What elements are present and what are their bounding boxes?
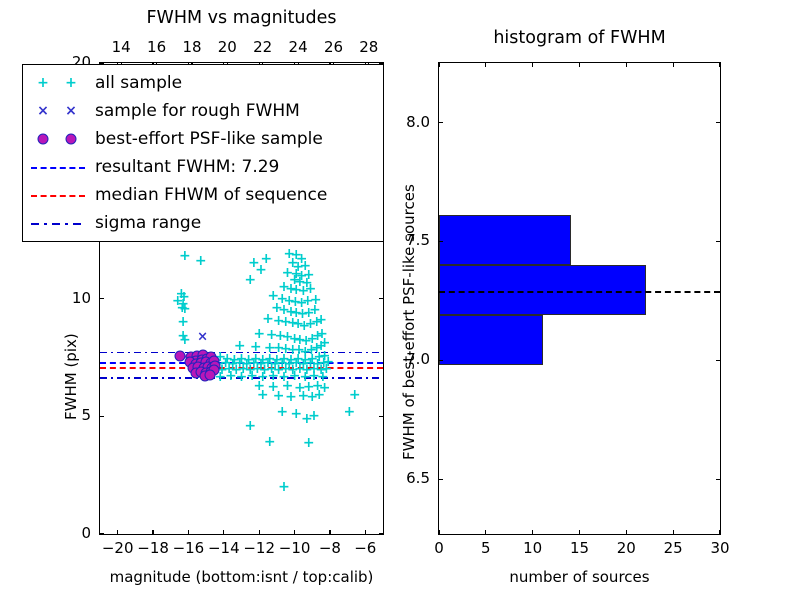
scatter-point-all-sample: + bbox=[303, 306, 315, 320]
scatter-point-all-sample: + bbox=[287, 363, 299, 377]
scatter-x-axis-label: magnitude (bottom:isnt / top:calib) bbox=[99, 568, 384, 586]
scatter-point-psf-like bbox=[200, 371, 211, 382]
scatter-point-all-sample: + bbox=[177, 297, 189, 311]
legend-marker-x-icon: × bbox=[37, 104, 49, 118]
scatter-point-all-sample: + bbox=[267, 380, 279, 394]
legend-entry-3[interactable]: resultant FWHM: 7.29 bbox=[23, 153, 383, 181]
scatter-point-all-sample: + bbox=[290, 283, 302, 297]
scatter-ytick-label: 5 bbox=[81, 406, 91, 424]
scatter-point-all-sample: + bbox=[271, 301, 283, 315]
scatter-point-all-sample: + bbox=[310, 293, 322, 307]
scatter-point-all-sample: + bbox=[273, 389, 285, 403]
scatter-point-all-sample: + bbox=[230, 363, 242, 377]
legend-line-dashed-icon bbox=[31, 167, 85, 169]
scatter-point-all-sample: + bbox=[269, 357, 281, 371]
legend-handle-dashdot-line bbox=[23, 209, 95, 237]
scatter-xtick bbox=[259, 530, 260, 535]
scatter-point-all-sample: + bbox=[293, 343, 305, 357]
scatter-point-all-sample: + bbox=[287, 316, 299, 330]
scatter-point-all-sample: + bbox=[303, 268, 315, 282]
scatter-point-all-sample: + bbox=[248, 256, 260, 270]
scatter-xtick-label: −14 bbox=[208, 539, 240, 557]
scatter-point-psf-like bbox=[191, 355, 202, 366]
scatter-point-all-sample: + bbox=[298, 284, 310, 298]
scatter-point-all-sample: + bbox=[216, 363, 228, 377]
scatter-point-all-sample: + bbox=[227, 357, 239, 371]
scatter-point-all-sample: + bbox=[301, 412, 313, 426]
legend-handle-x: ×× bbox=[23, 97, 95, 125]
scatter-point-all-sample: + bbox=[296, 296, 308, 310]
legend-handle-dashed-line bbox=[23, 153, 95, 181]
scatter-point-all-sample: + bbox=[292, 317, 304, 331]
scatter-point-all-sample: + bbox=[267, 289, 279, 303]
scatter-point-psf-like bbox=[206, 352, 217, 363]
scatter-point-all-sample: + bbox=[299, 353, 311, 367]
scatter-point-all-sample: + bbox=[312, 379, 324, 393]
scatter-point-all-sample: + bbox=[264, 435, 276, 449]
histogram-ytick bbox=[438, 241, 443, 242]
scatter-point-all-sample: + bbox=[319, 381, 331, 395]
scatter-point-all-sample: + bbox=[306, 332, 318, 346]
legend-entry-0[interactable]: ++all sample bbox=[23, 69, 383, 97]
histogram-xtick-label: 5 bbox=[481, 539, 491, 557]
scatter-point-all-sample: + bbox=[178, 290, 190, 304]
scatter-point-all-sample: + bbox=[259, 363, 271, 377]
histogram-xtick-label: 25 bbox=[664, 539, 683, 557]
legend-entry-4[interactable]: median FHWM of sequence bbox=[23, 181, 383, 209]
scatter-point-all-sample: + bbox=[202, 363, 214, 377]
scatter-xtick-label: −6 bbox=[354, 539, 376, 557]
scatter-ytick-right bbox=[379, 533, 384, 534]
scatter-point-all-sample: + bbox=[312, 329, 324, 343]
legend-entry-5[interactable]: sigma range bbox=[23, 209, 383, 237]
histogram-bar bbox=[439, 265, 646, 315]
scatter-point-all-sample: + bbox=[315, 339, 327, 353]
scatter-point-all-sample: + bbox=[244, 273, 256, 287]
scatter-xtick-label: −10 bbox=[279, 539, 311, 557]
scatter-point-all-sample: + bbox=[306, 390, 318, 404]
legend-entry-2[interactable]: best-effort PSF-like sample bbox=[23, 125, 383, 153]
reference-line-sigma-lower bbox=[100, 377, 383, 379]
scatter-point-all-sample: + bbox=[287, 256, 299, 270]
legend-line-dashdot-icon bbox=[31, 223, 85, 225]
scatter-point-all-sample: + bbox=[179, 249, 191, 263]
scatter-point-all-sample: + bbox=[271, 353, 283, 367]
histogram-xtick bbox=[485, 530, 486, 535]
legend-label-2: best-effort PSF-like sample bbox=[95, 129, 323, 149]
histogram-x-axis-label: number of sources bbox=[438, 568, 721, 586]
histogram-xtick-top bbox=[532, 62, 533, 67]
scatter-point-all-sample: + bbox=[225, 369, 237, 383]
scatter-top-tick-label: 20 bbox=[218, 38, 237, 56]
scatter-point-all-sample: + bbox=[273, 363, 285, 377]
scatter-point-all-sample: + bbox=[285, 390, 297, 404]
scatter-point-all-sample: + bbox=[305, 282, 317, 296]
legend-handle-circle bbox=[23, 125, 95, 153]
scatter-point-all-sample: + bbox=[229, 353, 241, 367]
scatter-point-all-sample: + bbox=[276, 405, 288, 419]
scatter-y-axis-label: FWHM (pix) bbox=[62, 333, 80, 420]
histogram-ytick-right bbox=[716, 241, 721, 242]
scatter-xtick bbox=[365, 530, 366, 535]
scatter-point-all-sample: + bbox=[278, 280, 290, 294]
histogram-xtick bbox=[532, 530, 533, 535]
reference-line-median-fhwm-of-sequence bbox=[100, 367, 383, 369]
scatter-point-all-sample: + bbox=[253, 327, 265, 341]
histogram-xtick bbox=[626, 530, 627, 535]
scatter-point-all-sample: + bbox=[199, 357, 211, 371]
scatter-xtick-label: −16 bbox=[173, 539, 205, 557]
scatter-point-all-sample: + bbox=[298, 319, 310, 333]
histogram-xtick-top bbox=[626, 62, 627, 67]
scatter-point-all-sample: + bbox=[213, 357, 225, 371]
histogram-bar bbox=[439, 315, 543, 365]
histogram-ytick bbox=[438, 122, 443, 123]
histogram-xtick-label: 15 bbox=[570, 539, 589, 557]
scatter-point-all-sample: + bbox=[292, 260, 304, 274]
scatter-point-all-sample: + bbox=[278, 480, 290, 494]
reference-line-sigma-upper bbox=[100, 352, 383, 354]
scatter-ytick bbox=[99, 533, 104, 534]
histogram-xtick bbox=[438, 530, 439, 535]
scatter-point-all-sample: + bbox=[301, 363, 313, 377]
legend-handle-plus: ++ bbox=[23, 69, 95, 97]
scatter-point-all-sample: + bbox=[315, 363, 327, 377]
scatter-point-all-sample: + bbox=[303, 436, 315, 450]
histogram-ytick-label: 6.5 bbox=[406, 469, 430, 487]
scatter-point-all-sample: + bbox=[285, 282, 297, 296]
histogram-xtick bbox=[579, 530, 580, 535]
scatter-point-all-sample: + bbox=[176, 301, 188, 315]
histogram-ytick-right bbox=[716, 479, 721, 480]
histogram-xtick-label: 20 bbox=[617, 539, 636, 557]
scatter-point-psf-like bbox=[209, 355, 220, 366]
scatter-point-all-sample: + bbox=[282, 379, 294, 393]
scatter-point-all-sample: + bbox=[290, 407, 302, 421]
scatter-ytick-right bbox=[379, 298, 384, 299]
scatter-point-all-sample: + bbox=[243, 353, 255, 367]
scatter-point-all-sample: + bbox=[298, 389, 310, 403]
scatter-xtick bbox=[294, 530, 295, 535]
histogram-bar bbox=[439, 215, 571, 265]
legend-marker-plus-icon: + bbox=[65, 76, 77, 90]
scatter-point-psf-like bbox=[186, 352, 197, 363]
legend-marker-x-icon: × bbox=[65, 104, 77, 118]
scatter-point-all-sample: + bbox=[289, 369, 301, 383]
scatter-ytick-label: 10 bbox=[72, 289, 91, 307]
scatter-point-all-sample: + bbox=[306, 343, 318, 357]
legend-label-5: sigma range bbox=[95, 213, 201, 233]
legend-label-1: sample for rough FWHM bbox=[95, 101, 300, 121]
scatter-point-all-sample: + bbox=[296, 252, 308, 266]
scatter-point-rough-fwhm: × bbox=[197, 331, 208, 344]
scatter-point-all-sample: + bbox=[287, 343, 299, 357]
histogram-xtick-top bbox=[438, 62, 439, 67]
scatter-point-all-sample: + bbox=[344, 405, 356, 419]
histogram-xtick bbox=[719, 530, 720, 535]
scatter-point-all-sample: + bbox=[298, 357, 310, 371]
scatter-ytick-label: 0 bbox=[81, 524, 91, 542]
scatter-point-all-sample: + bbox=[283, 294, 295, 308]
scatter-top-tick-label: 28 bbox=[359, 38, 378, 56]
legend-marker-circle-icon bbox=[38, 134, 49, 145]
scatter-point-all-sample: + bbox=[285, 305, 297, 319]
histogram-ytick bbox=[438, 479, 443, 480]
scatter-point-all-sample: + bbox=[244, 363, 256, 377]
scatter-point-all-sample: + bbox=[280, 315, 292, 329]
scatter-point-all-sample: + bbox=[309, 303, 321, 317]
scatter-xtick bbox=[117, 530, 118, 535]
scatter-point-all-sample: + bbox=[282, 266, 294, 280]
scatter-point-all-sample: + bbox=[253, 379, 265, 393]
scatter-point-all-sample: + bbox=[273, 314, 285, 328]
scatter-point-all-sample: + bbox=[311, 315, 323, 329]
legend-label-4: median FHWM of sequence bbox=[95, 185, 327, 205]
histogram-xtick-top bbox=[719, 62, 720, 67]
scatter-top-tick-label: 16 bbox=[147, 38, 166, 56]
scatter-point-all-sample: + bbox=[299, 259, 311, 273]
histogram-xtick bbox=[673, 530, 674, 535]
histogram-xtick-label: 30 bbox=[710, 539, 729, 557]
scatter-point-all-sample: + bbox=[308, 369, 320, 383]
histogram-xtick-top bbox=[673, 62, 674, 67]
histogram-xtick-top bbox=[579, 62, 580, 67]
scatter-point-all-sample: + bbox=[255, 357, 267, 371]
scatter-point-all-sample: + bbox=[255, 263, 267, 277]
scatter-point-all-sample: + bbox=[308, 409, 320, 423]
scatter-top-tick-label: 14 bbox=[112, 38, 131, 56]
legend-handle-dashed-line bbox=[23, 181, 95, 209]
scatter-xtick-label: −18 bbox=[137, 539, 169, 557]
scatter-point-all-sample: + bbox=[260, 252, 272, 266]
scatter-point-all-sample: + bbox=[294, 333, 306, 347]
scatter-point-all-sample: + bbox=[244, 419, 256, 433]
scatter-point-all-sample: + bbox=[257, 388, 269, 402]
matplotlib-figure: FWHM vs magnitudes +++++++++++++++++++++… bbox=[0, 0, 800, 600]
scatter-point-all-sample: + bbox=[257, 353, 269, 367]
scatter-point-all-sample: + bbox=[266, 328, 278, 342]
histogram-ytick-right bbox=[716, 360, 721, 361]
histogram-ytick-label: 8.0 bbox=[406, 113, 430, 131]
scatter-ytick bbox=[99, 298, 104, 299]
scatter-point-all-sample: + bbox=[267, 369, 279, 383]
histogram-median-line bbox=[439, 291, 720, 293]
scatter-point-all-sample: + bbox=[349, 388, 361, 402]
scatter-point-all-sample: + bbox=[294, 275, 306, 289]
scatter-point-all-sample: + bbox=[283, 357, 295, 371]
scatter-point-all-sample: + bbox=[290, 295, 302, 309]
scatter-point-all-sample: + bbox=[313, 388, 325, 402]
scatter-top-tick-label: 22 bbox=[253, 38, 272, 56]
scatter-point-all-sample: + bbox=[204, 369, 216, 383]
scatter-point-all-sample: + bbox=[297, 307, 309, 321]
scatter-legend[interactable]: ++all sample××sample for rough FWHMbest-… bbox=[22, 64, 384, 242]
scatter-xtick bbox=[223, 530, 224, 535]
scatter-point-all-sample: + bbox=[176, 287, 188, 301]
scatter-point-all-sample: + bbox=[282, 330, 294, 344]
legend-line-dashed-icon bbox=[31, 195, 85, 197]
scatter-point-all-sample: + bbox=[316, 327, 328, 341]
histogram-xtick-label: 10 bbox=[523, 539, 542, 557]
scatter-xtick bbox=[329, 530, 330, 535]
scatter-xtick-label: −8 bbox=[319, 539, 341, 557]
legend-entry-1[interactable]: ××sample for rough FWHM bbox=[23, 97, 383, 125]
scatter-point-all-sample: + bbox=[241, 357, 253, 371]
scatter-point-all-sample: + bbox=[312, 357, 324, 371]
histogram-y-axis-label: FWHM of best-effort PSF-like sources bbox=[400, 184, 418, 460]
scatter-top-tick-label: 26 bbox=[324, 38, 343, 56]
scatter-point-all-sample: + bbox=[285, 353, 297, 367]
scatter-top-tick-label: 18 bbox=[182, 38, 201, 56]
scatter-point-all-sample: + bbox=[305, 317, 317, 331]
scatter-point-all-sample: + bbox=[179, 333, 191, 347]
scatter-xtick-label: −20 bbox=[102, 539, 134, 557]
scatter-plot-title: FWHM vs magnitudes bbox=[99, 8, 384, 28]
scatter-point-all-sample: + bbox=[319, 336, 331, 350]
scatter-point-all-sample: + bbox=[276, 292, 288, 306]
histogram-xtick-top bbox=[485, 62, 486, 67]
scatter-point-all-sample: + bbox=[177, 329, 189, 343]
scatter-point-all-sample: + bbox=[246, 369, 258, 383]
histogram-data-area bbox=[439, 63, 720, 534]
scatter-point-all-sample: + bbox=[262, 312, 274, 326]
scatter-point-all-sample: + bbox=[300, 334, 312, 348]
legend-label-3: resultant FWHM: 7.29 bbox=[95, 157, 279, 177]
scatter-point-all-sample: + bbox=[303, 380, 315, 394]
histogram-ytick bbox=[438, 360, 443, 361]
histogram-ytick-right bbox=[716, 122, 721, 123]
scatter-point-all-sample: + bbox=[280, 342, 292, 356]
scatter-xtick bbox=[152, 530, 153, 535]
histogram-title: histogram of FWHM bbox=[438, 28, 721, 48]
scatter-point-all-sample: + bbox=[195, 254, 207, 268]
scatter-point-all-sample: + bbox=[290, 306, 302, 320]
legend-marker-circle-icon bbox=[66, 134, 77, 145]
scatter-point-all-sample: + bbox=[290, 248, 302, 262]
scatter-point-all-sample: + bbox=[234, 339, 246, 353]
scatter-ytick-right bbox=[379, 416, 384, 417]
scatter-point-all-sample: + bbox=[301, 276, 313, 290]
scatter-xtick bbox=[188, 530, 189, 535]
scatter-point-all-sample: + bbox=[278, 303, 290, 317]
histogram-xtick-label: 0 bbox=[434, 539, 444, 557]
scatter-top-tick-label: 24 bbox=[289, 38, 308, 56]
scatter-point-all-sample: + bbox=[290, 267, 302, 281]
reference-line-resultant-fwhm bbox=[100, 362, 383, 364]
scatter-point-all-sample: + bbox=[296, 269, 308, 283]
legend-label-0: all sample bbox=[95, 73, 182, 93]
scatter-point-all-sample: + bbox=[294, 381, 306, 395]
legend-marker-plus-icon: + bbox=[37, 76, 49, 90]
scatter-point-all-sample: + bbox=[179, 302, 191, 316]
scatter-point-all-sample: + bbox=[289, 332, 301, 346]
scatter-point-all-sample: + bbox=[289, 273, 301, 287]
scatter-point-all-sample: + bbox=[275, 329, 287, 343]
scatter-point-all-sample: + bbox=[172, 294, 184, 308]
scatter-point-all-sample: + bbox=[283, 247, 295, 261]
scatter-point-all-sample: + bbox=[302, 294, 314, 308]
scatter-ytick bbox=[99, 416, 104, 417]
scatter-point-all-sample: + bbox=[315, 313, 327, 327]
scatter-xtick-label: −12 bbox=[243, 539, 275, 557]
scatter-point-all-sample: + bbox=[177, 315, 189, 329]
